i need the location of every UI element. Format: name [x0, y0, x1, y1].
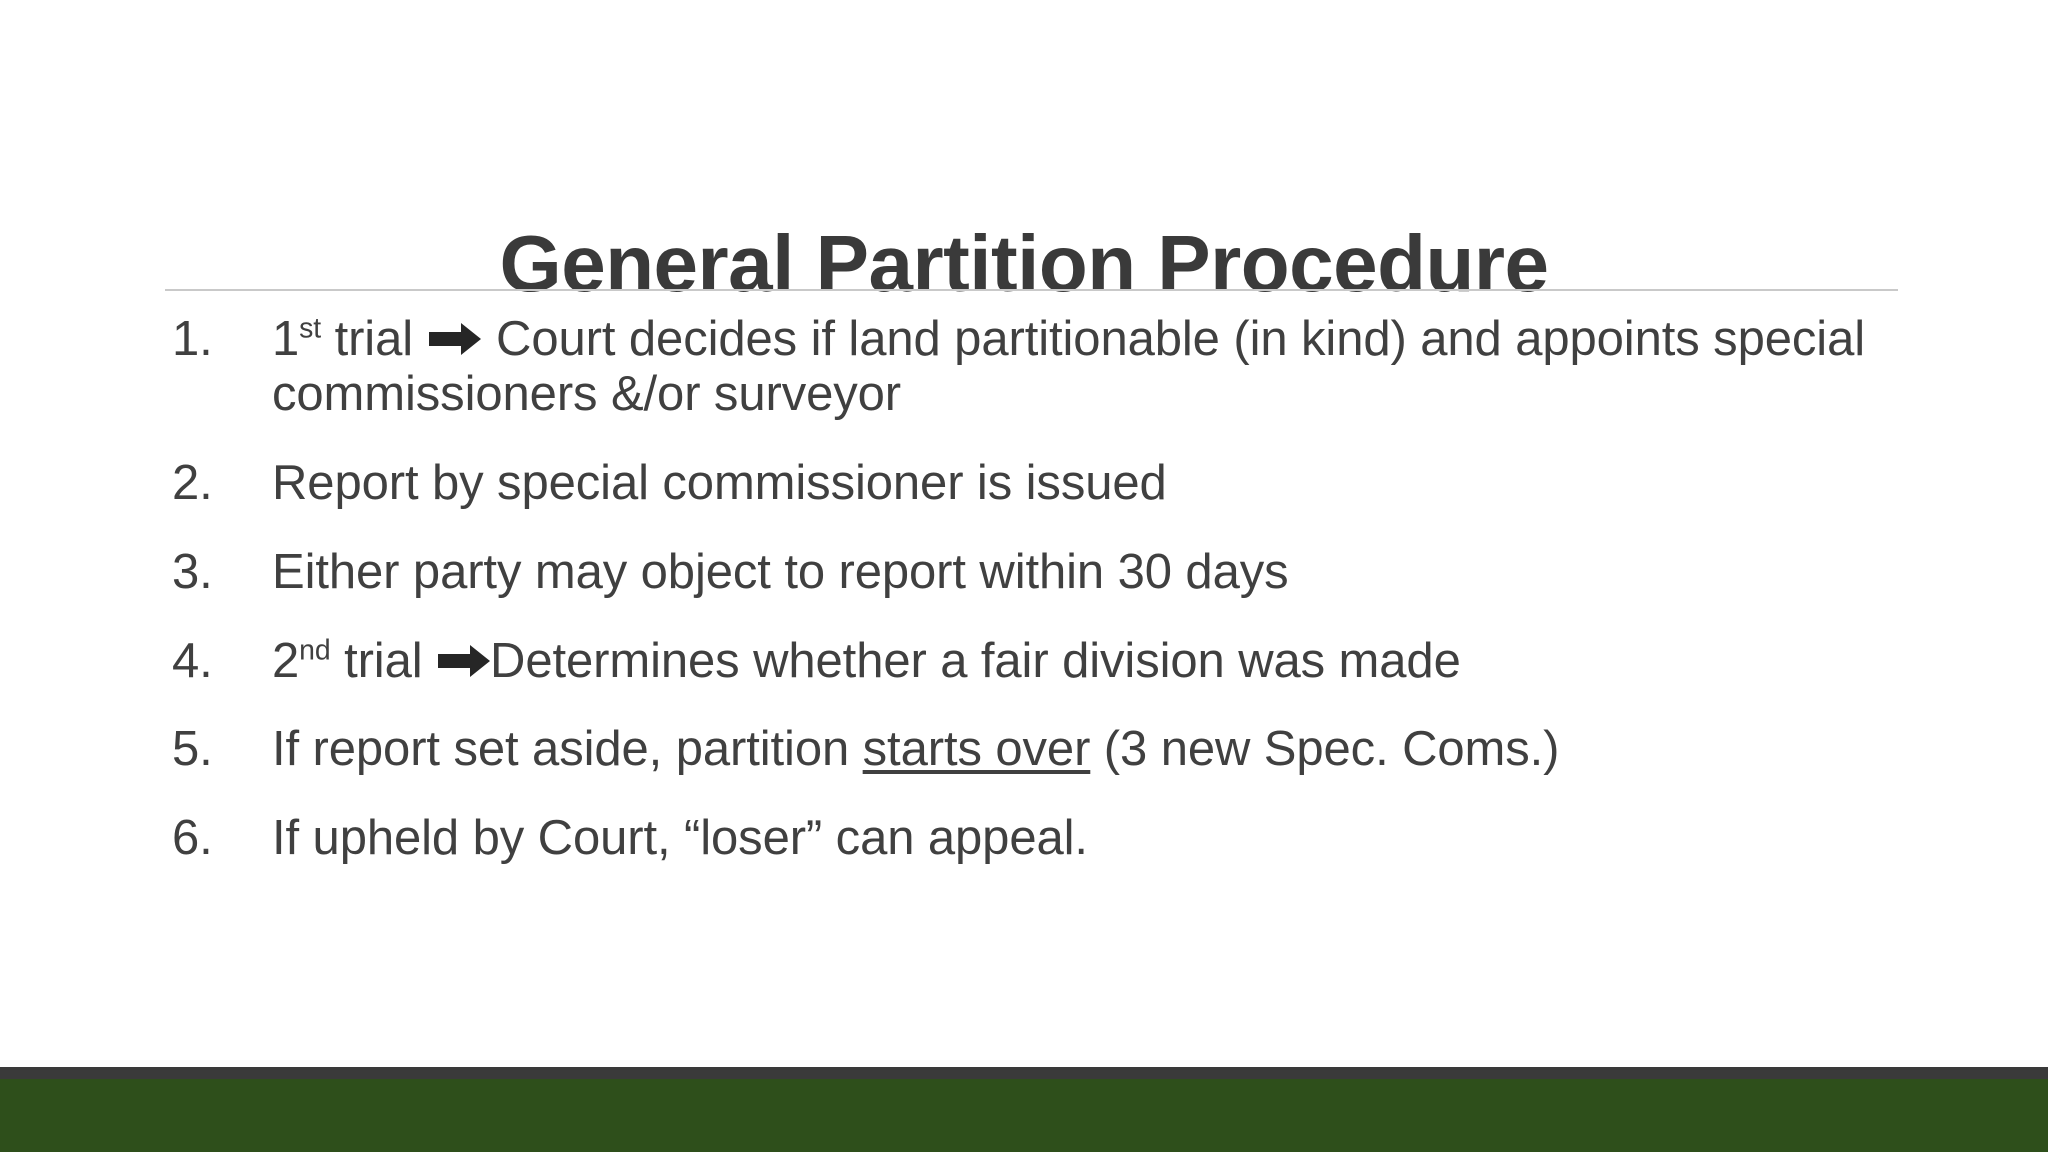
- list-item-marker: 5.: [172, 722, 272, 777]
- list-item-mid-text: trial: [331, 634, 436, 688]
- list-item-marker: 3.: [172, 545, 272, 600]
- list-item: 2. Report by special commissioner is iss…: [172, 456, 1952, 511]
- list-item: 5. If report set aside, partition starts…: [172, 722, 1952, 777]
- list-item-pre-text: 2: [272, 634, 299, 688]
- right-block-arrow-icon: [429, 322, 481, 357]
- list-item: 6. If upheld by Court, “loser” can appea…: [172, 811, 1952, 866]
- list-item-text: 1st trial Court decides if land partitio…: [272, 312, 1952, 422]
- list-item-post-text: Determines whether a fair division was m…: [490, 634, 1461, 688]
- list-item: 4. 2nd trial Determines whether a fair d…: [172, 634, 1952, 689]
- footer-accent-bar: [0, 1067, 2048, 1079]
- list-item: 1. 1st trial Court decides if land parti…: [172, 312, 1952, 422]
- list-item-text: If upheld by Court, “loser” can appeal.: [272, 811, 1952, 866]
- title-divider-rule: [165, 289, 1898, 291]
- list-item-text: 2nd trial Determines whether a fair divi…: [272, 634, 1952, 689]
- footer-green-bar: [0, 1079, 2048, 1152]
- list-item-marker: 1.: [172, 312, 272, 367]
- page-title: General Partition Procedure: [499, 222, 1548, 306]
- list-item-pre-text: 1: [272, 312, 299, 366]
- list-item-text: Either party may object to report within…: [272, 545, 1952, 600]
- list-item-marker: 2.: [172, 456, 272, 511]
- list-item-superscript: nd: [299, 634, 330, 666]
- list-item: 3. Either party may object to report wit…: [172, 545, 1952, 600]
- list-item-text-after-underline: (3 new Spec. Coms.): [1090, 722, 1559, 776]
- right-block-arrow-icon: [438, 643, 490, 678]
- list-item-mid-text: trial: [321, 312, 426, 366]
- list-item-superscript: st: [299, 313, 321, 345]
- list-item-underlined-text: starts over: [863, 722, 1091, 776]
- numbered-list: 1. 1st trial Court decides if land parti…: [172, 312, 1952, 866]
- list-item-marker: 6.: [172, 811, 272, 866]
- list-item-post-text: Court decides if land partitionable (in …: [272, 312, 1865, 421]
- list-item-marker: 4.: [172, 634, 272, 689]
- slide-canvas: General Partition Procedure 1. 1st trial…: [0, 0, 2048, 1152]
- list-item-text-before-underline: If report set aside, partition: [272, 722, 863, 776]
- list-item-text: If report set aside, partition starts ov…: [272, 722, 1952, 777]
- list-item-text: Report by special commissioner is issued: [272, 456, 1952, 511]
